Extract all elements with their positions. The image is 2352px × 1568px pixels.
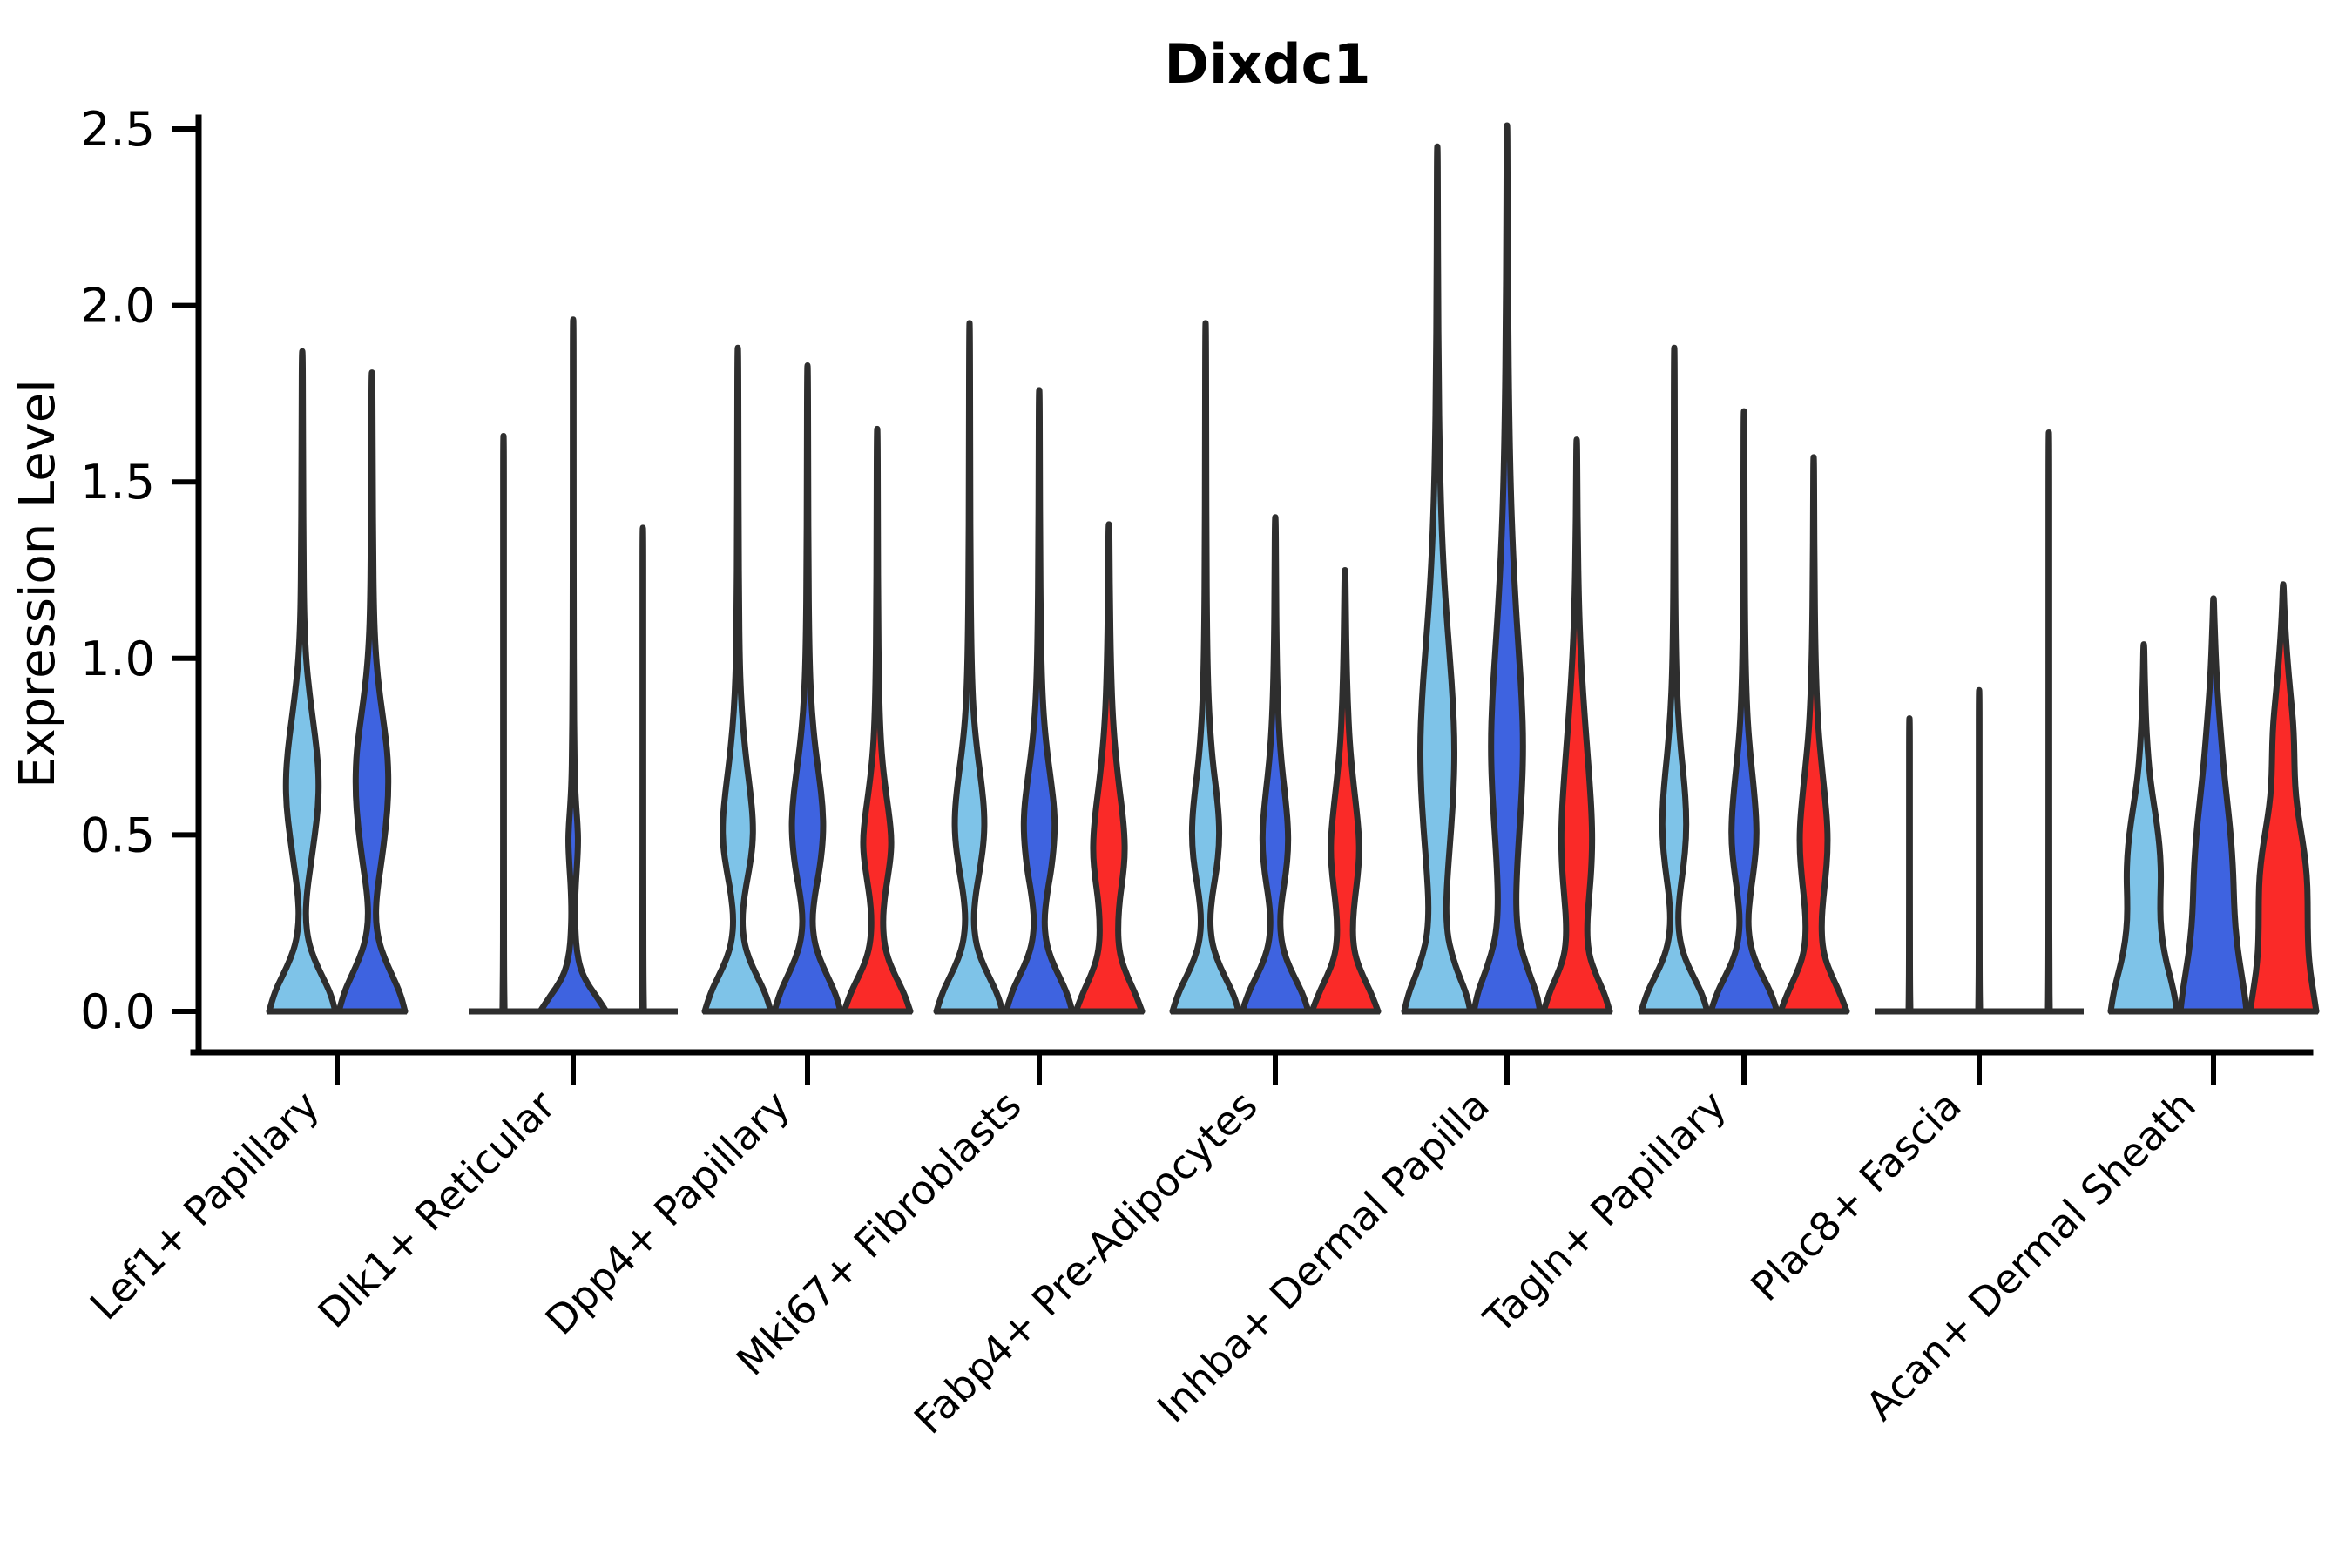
- y-tick-label: 2.0: [80, 279, 155, 334]
- violin-shape[interactable]: [503, 436, 504, 1011]
- violin-shape[interactable]: [2048, 432, 2050, 1011]
- y-tick-label: 0.0: [80, 984, 155, 1039]
- violin-plot-figure: Dixdc1 Expression Level 2.52.01.51.00.50…: [0, 0, 2352, 1568]
- y-tick-label: 2.5: [80, 102, 155, 157]
- violin-shape[interactable]: [1978, 690, 1980, 1011]
- y-tick-label: 0.5: [80, 808, 155, 862]
- plot-canvas: Dixdc1 Expression Level 2.52.01.51.00.50…: [0, 0, 2352, 1568]
- y-tick-label: 1.5: [80, 455, 155, 510]
- page-title: Dixdc1: [1165, 32, 1371, 96]
- y-tick-label: 1.0: [80, 632, 155, 686]
- violin-shape[interactable]: [1909, 719, 1910, 1011]
- violin-shape[interactable]: [642, 528, 644, 1011]
- y-axis-label: Expression Level: [10, 379, 66, 788]
